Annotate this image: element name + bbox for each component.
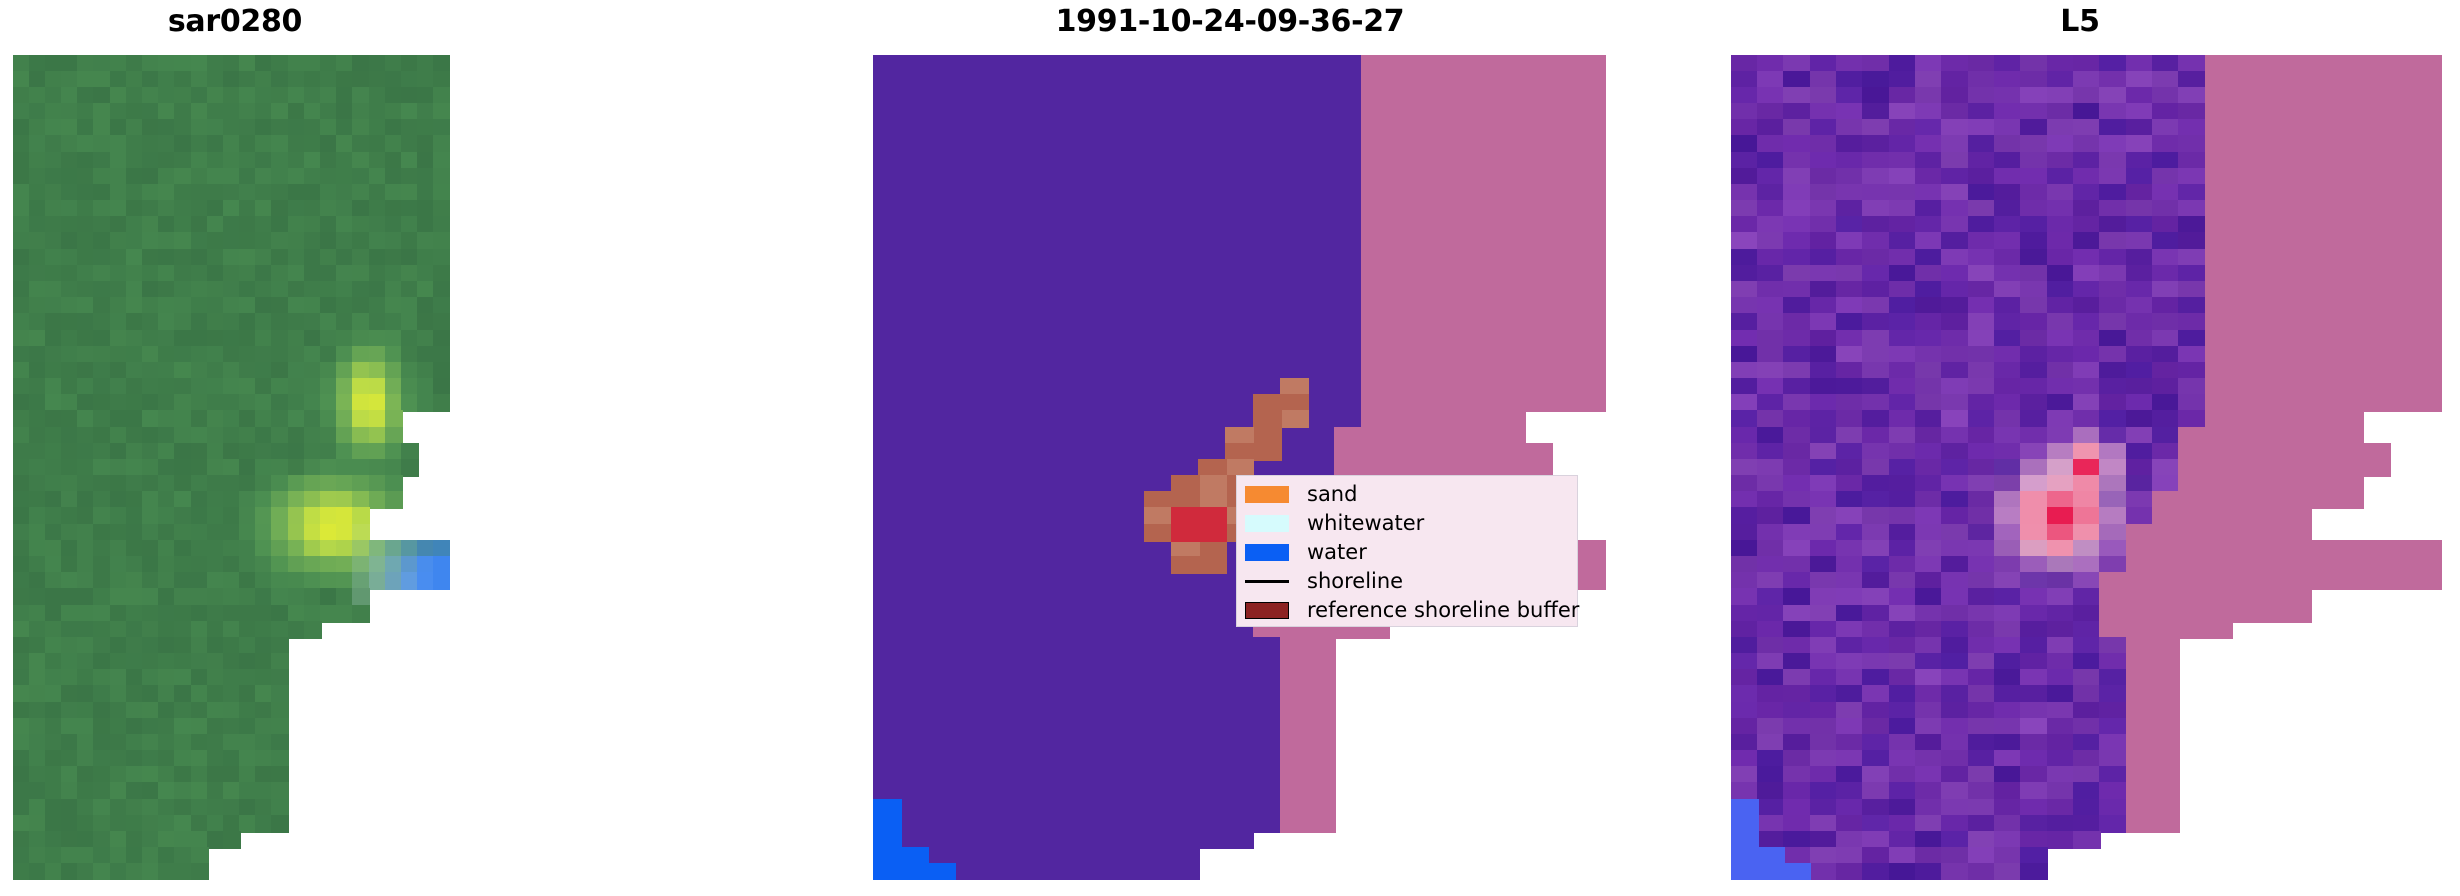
panel-classified: 1991-10-24-09-36-27 [855,0,1605,896]
raster-classified [873,55,1606,880]
l5-raster-canvas [1731,55,2442,880]
legend-swatch-icon [1245,602,1289,619]
panel-title-classified: 1991-10-24-09-36-27 [855,0,1605,44]
legend-label: reference shoreline buffer [1307,600,1579,621]
legend-label: shoreline [1307,571,1403,592]
shoreline-line-icon [1245,573,1289,590]
panel-sar: sar0280 [0,0,470,896]
legend-row: whitewater [1243,509,1571,538]
figure-canvas: sar0280 1991-10-24-09-36-27 L5 sandwhite… [0,0,2460,896]
legend-row: reference shoreline buffer [1243,596,1571,625]
raster-sar [13,55,450,880]
legend-row: sand [1243,480,1571,509]
legend-row: shoreline [1243,567,1571,596]
legend-swatch-icon [1245,515,1289,532]
legend-label: whitewater [1307,513,1424,534]
sar-raster-canvas [13,55,450,880]
legend-swatch-icon [1245,544,1289,561]
raster-l5 [1731,55,2442,880]
panel-title-l5: L5 [1700,0,2460,44]
map-legend: sandwhitewaterwatershorelinereference sh… [1236,475,1578,627]
legend-swatch-icon [1245,486,1289,503]
panel-l5: L5 [1700,0,2460,896]
panel-title-sar: sar0280 [0,0,470,44]
legend-label: water [1307,542,1367,563]
classified-raster-canvas [873,55,1606,880]
legend-label: sand [1307,484,1357,505]
legend-row: water [1243,538,1571,567]
